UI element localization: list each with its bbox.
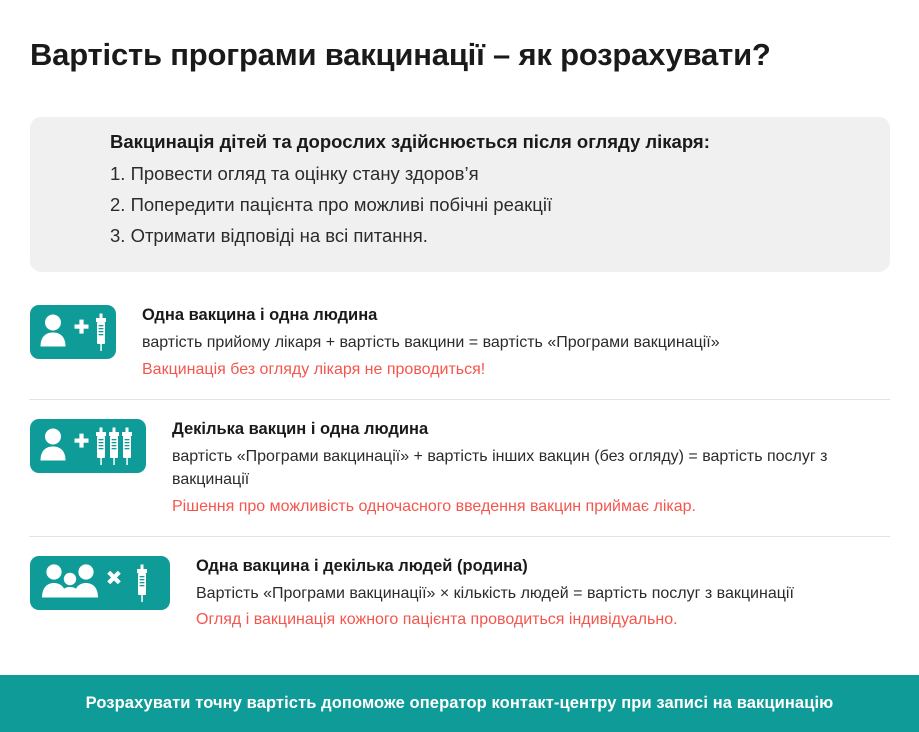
scenario-row-1-title: Одна вакцина і одна людина: [142, 305, 821, 326]
scenario-row-1-formula: вартість прийому лікаря + вартість вакци…: [142, 331, 821, 354]
intro-heading: Вакцинація дітей та дорослих здійснюєтьс…: [110, 130, 890, 153]
scenario-row-3: Одна вакцина і декілька людей (родина) В…: [0, 546, 919, 642]
scenario-row-3-formula: Вартість «Програми вакцинації» × кількіс…: [196, 582, 875, 605]
intro-panel: Вакцинація дітей та дорослих здійснюєтьс…: [30, 117, 890, 272]
row-divider-1: [29, 399, 890, 400]
scenario-row-2-text: Декілька вакцин і одна людина вартість «…: [146, 419, 851, 518]
scenario-row-1: Одна вакцина і одна людина вартість прий…: [0, 295, 919, 391]
footer-text: Розрахувати точну вартість допоможе опер…: [86, 694, 834, 713]
scenario-list: Одна вакцина і одна людина вартість прий…: [0, 295, 919, 642]
scenario-row-2-title: Декілька вакцин і одна людина: [172, 419, 851, 440]
scenario-row-3-title: Одна вакцина і декілька людей (родина): [196, 556, 875, 577]
scenario-row-2-note: Рішення про можливість одночасного введе…: [172, 495, 851, 518]
person-plus-three-syringes-icon: [30, 419, 146, 473]
family-times-syringe-icon: [30, 556, 170, 610]
page-title: Вартість програми вакцинації – як розрах…: [30, 38, 900, 72]
scenario-row-1-note: Вакцинація без огляду лікаря не проводит…: [142, 358, 821, 381]
scenario-row-2-formula: вартість «Програми вакцинації» + вартіст…: [172, 445, 851, 491]
scenario-row-3-text: Одна вакцина і декілька людей (родина) В…: [170, 556, 875, 632]
intro-step-1: 1. Провести огляд та оцінку стану здоров…: [110, 162, 890, 185]
intro-step-3: 3. Отримати відповіді на всі питання.: [110, 224, 890, 247]
intro-step-2: 2. Попередити пацієнта про можливі побіч…: [110, 193, 890, 216]
scenario-row-2: Декілька вакцин і одна людина вартість «…: [0, 409, 919, 528]
footer-banner: Розрахувати точну вартість допоможе опер…: [0, 675, 919, 732]
infographic-page: Вартість програми вакцинації – як розрах…: [0, 0, 919, 732]
row-divider-2: [29, 536, 890, 537]
person-plus-syringe-icon: [30, 305, 116, 359]
scenario-row-1-text: Одна вакцина і одна людина вартість прий…: [116, 305, 821, 381]
scenario-row-3-note: Огляд і вакцинація кожного пацієнта пров…: [196, 608, 875, 631]
